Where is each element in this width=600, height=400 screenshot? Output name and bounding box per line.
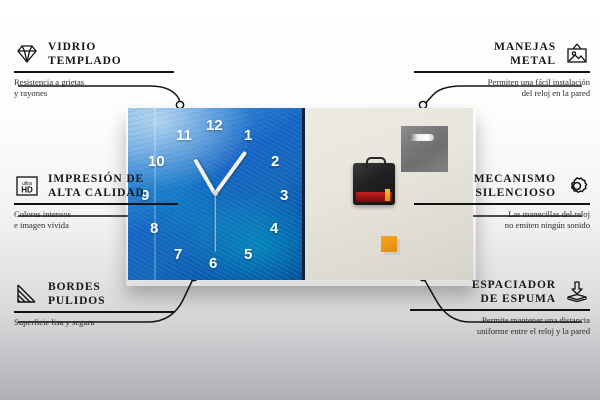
- clock-numeral-2: 2: [271, 154, 279, 169]
- clock-numeral-1: 1: [244, 128, 252, 143]
- callout-desc-line2: del reloj en la pared: [414, 88, 590, 100]
- diagonal-stripes-icon: [14, 282, 40, 306]
- clock-numeral-6: 6: [209, 256, 217, 271]
- callout-espaciador-espuma: ESPACIADOR DE ESPUMA Permite mantener un…: [410, 278, 590, 338]
- clock-numeral-4: 4: [270, 221, 278, 236]
- callout-divider: [14, 203, 178, 205]
- callout-title-line2: TEMPLADO: [48, 54, 122, 68]
- clock-numeral-10: 10: [148, 154, 165, 169]
- callout-manejas-metal: MANEJAS METAL Permiten una fácil instala…: [414, 40, 590, 100]
- battery: [356, 192, 392, 202]
- ultra-hd-icon: ultra HD: [14, 174, 40, 198]
- clock-numeral-7: 7: [174, 247, 182, 262]
- clock-numeral-12: 12: [206, 118, 223, 133]
- callout-title-line1: IMPRESIÓN DE: [48, 172, 145, 186]
- metal-hanger: [401, 126, 448, 172]
- callout-mecanismo-silencioso: MECANISMO SILENCIOSO Las manecillas del …: [414, 172, 590, 232]
- quartz-mechanism: [353, 163, 395, 205]
- svg-text:HD: HD: [21, 186, 33, 195]
- callout-desc-line1: Las manecillas del reloj: [414, 209, 590, 221]
- callout-desc-line1: Resistencia a grietas: [14, 77, 174, 89]
- callout-vidrio-templado: VIDRIO TEMPLADO Resistencia a grietas y …: [14, 40, 174, 100]
- callout-desc-line2: e imagen vívida: [14, 220, 178, 232]
- clock-center-pivot: [213, 191, 218, 196]
- callout-title-line2: SILENCIOSO: [474, 186, 556, 200]
- callout-desc-line1: Permite mantener una distancia: [410, 315, 590, 327]
- callout-bordes-pulidos: BORDES PULIDOS Superficie lisa y segura: [14, 280, 174, 328]
- callout-divider: [14, 311, 174, 313]
- callout-title-line2: PULIDOS: [48, 294, 105, 308]
- callout-title-line1: VIDRIO: [48, 40, 122, 54]
- clock-numeral-5: 5: [244, 247, 252, 262]
- callout-title-line2: METAL: [494, 54, 556, 68]
- clock-numeral-11: 11: [176, 128, 192, 143]
- callout-title-line1: MECANISMO: [474, 172, 556, 186]
- callout-desc-line1: Colores intensos: [14, 209, 178, 221]
- infographic-canvas: 12 1 2 3 4 5 6 7 8 9 10 11: [0, 0, 600, 400]
- hanger-slot: [409, 134, 434, 141]
- callout-desc-line2: uniforme entre el reloj y la pared: [410, 326, 590, 338]
- diamond-icon: [14, 42, 40, 66]
- clock-hour-hand: [193, 158, 216, 195]
- callout-divider: [14, 71, 174, 73]
- callout-desc-line2: y rayones: [14, 88, 174, 100]
- clock-minute-hand: [213, 151, 247, 195]
- callout-title-line2: DE ESPUMA: [472, 292, 556, 306]
- callout-title-line1: ESPACIADOR: [472, 278, 556, 292]
- clock-numeral-3: 3: [280, 188, 288, 203]
- callout-divider: [414, 71, 590, 73]
- gear-icon: [564, 174, 590, 198]
- callout-desc-line1: Permiten una fácil instalación: [414, 77, 590, 89]
- framed-picture-icon: [564, 42, 590, 66]
- callout-impresion-alta-calidad: ultra HD IMPRESIÓN DE ALTA CALIDAD Color…: [14, 172, 178, 232]
- callout-divider: [410, 309, 590, 311]
- foam-spacer: [381, 236, 397, 252]
- callout-desc-line1: Superficie lisa y segura: [14, 317, 174, 329]
- clock-second-hand: [214, 194, 215, 252]
- callout-title-line1: BORDES: [48, 280, 105, 294]
- callout-desc-line2: no emiten ningún sonido: [414, 220, 590, 232]
- callout-title-line2: ALTA CALIDAD: [48, 186, 145, 200]
- callout-title-line1: MANEJAS: [494, 40, 556, 54]
- callout-divider: [414, 203, 590, 205]
- arrow-onto-foam-icon: [564, 280, 590, 304]
- mechanism-loop: [366, 157, 386, 168]
